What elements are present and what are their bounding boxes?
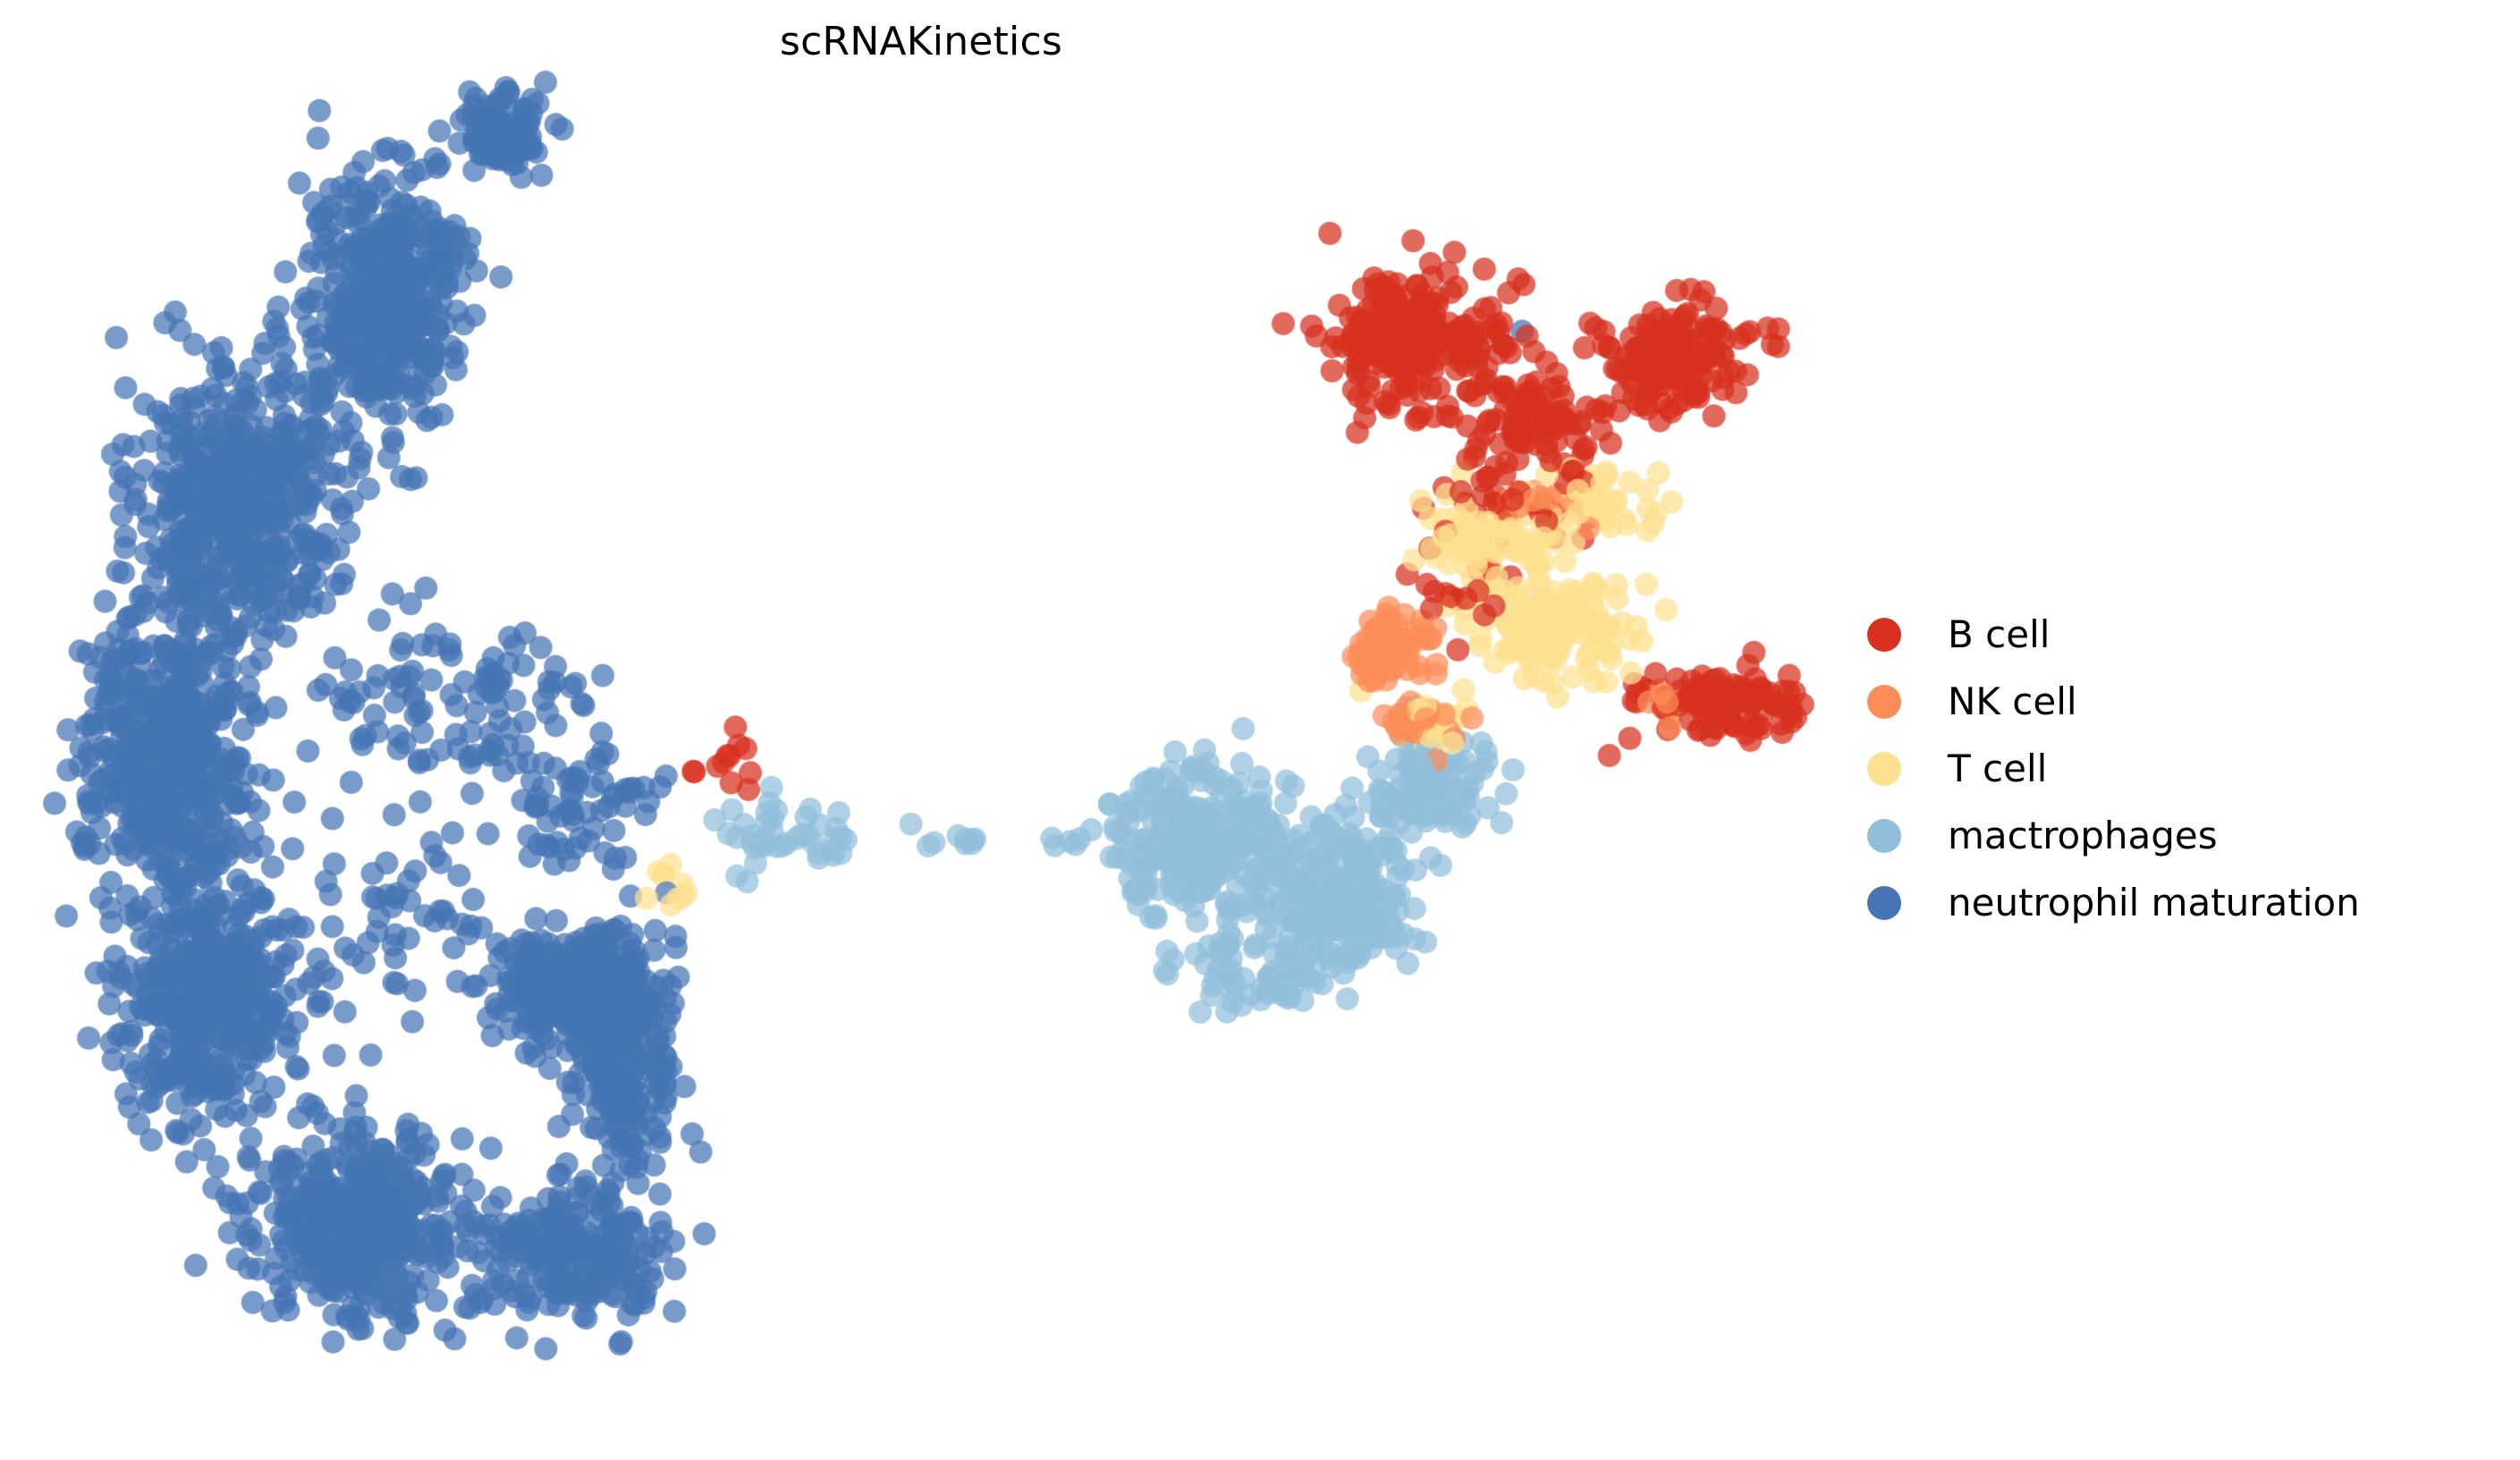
legend-item-label: neutrophil maturation xyxy=(1948,884,2360,922)
legend-marker-icon xyxy=(1867,752,1901,786)
legend-item-t-cell[interactable]: T cell xyxy=(1867,735,2493,802)
legend-item-mactrophages[interactable]: mactrophages xyxy=(1867,802,2493,869)
legend-item-neutrophil-maturation[interactable]: neutrophil maturation xyxy=(1867,869,2493,936)
legend-item-b-cell[interactable]: B cell xyxy=(1867,601,2493,668)
scatter-plot-figure: scRNAKinetics B cell NK cell T cell mact… xyxy=(0,0,2520,1460)
legend-marker-icon xyxy=(1867,819,1901,853)
legend-item-label: B cell xyxy=(1948,616,2050,654)
legend-marker-icon xyxy=(1867,618,1901,652)
legend-marker-icon xyxy=(1867,685,1901,719)
legend-marker-icon xyxy=(1867,886,1901,920)
legend-item-label: NK cell xyxy=(1948,683,2077,721)
legend-item-label: T cell xyxy=(1948,750,2047,788)
legend-item-nk-cell[interactable]: NK cell xyxy=(1867,668,2493,735)
legend-item-label: mactrophages xyxy=(1948,817,2218,855)
legend: B cell NK cell T cell mactrophages neutr… xyxy=(1867,601,2493,936)
